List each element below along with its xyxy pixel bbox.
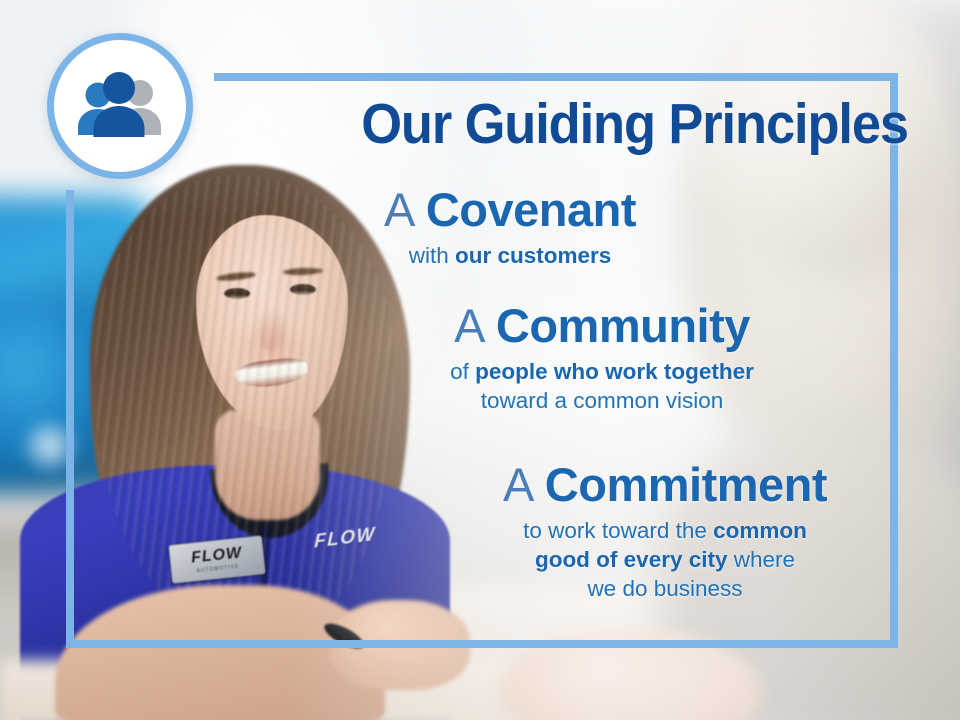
page-title: Our Guiding Principles	[73, 96, 908, 153]
commitment-sub-1b: common	[713, 518, 807, 543]
principle-community-subtext: of people who work together toward a com…	[352, 357, 852, 416]
principle-covenant-article: A	[384, 183, 426, 236]
commitment-sub-1a: to work toward the	[523, 518, 713, 543]
principle-covenant-subline-1: with our customers	[310, 241, 710, 270]
principle-commitment-word: Commitment	[545, 458, 827, 511]
principle-community-subline-1: of people who work together	[352, 357, 852, 386]
covenant-sub-1a: with	[409, 243, 455, 268]
principle-commitment-subtext: to work toward the common good of every …	[430, 516, 900, 604]
principle-covenant-word: Covenant	[426, 183, 636, 236]
community-sub-1a: of	[450, 359, 475, 384]
principle-community-word: Community	[496, 299, 750, 352]
community-sub-1b: people who work together	[475, 359, 754, 384]
poster-canvas: FLOW AUTOMOTIVE FLOW	[0, 0, 960, 720]
principle-community-heading: A Community	[352, 302, 852, 350]
commitment-sub-3a: we do business	[587, 576, 742, 601]
principle-commitment-article: A	[503, 458, 545, 511]
principle-commitment-subline-2: good of every city where	[430, 545, 900, 574]
principle-covenant-subtext: with our customers	[310, 241, 710, 270]
commitment-sub-2a: good of every city	[535, 547, 728, 572]
principle-commitment-subline-3: we do business	[430, 574, 900, 603]
principle-commitment-subline-1: to work toward the common	[430, 516, 900, 545]
principle-commitment-heading: A Commitment	[430, 461, 900, 509]
principle-community-article: A	[454, 299, 496, 352]
principle-commitment: A Commitment to work toward the common g…	[430, 461, 900, 604]
text-stack: Our Guiding Principles A Covenant with o…	[0, 0, 960, 720]
commitment-sub-2b: where	[728, 547, 796, 572]
principle-covenant-heading: A Covenant	[310, 186, 710, 234]
community-sub-2a: toward a common vision	[481, 388, 724, 413]
covenant-sub-1b: our customers	[455, 243, 611, 268]
principle-community-subline-2: toward a common vision	[352, 386, 852, 415]
principle-community: A Community of people who work together …	[352, 302, 852, 415]
principle-covenant: A Covenant with our customers	[310, 186, 710, 270]
